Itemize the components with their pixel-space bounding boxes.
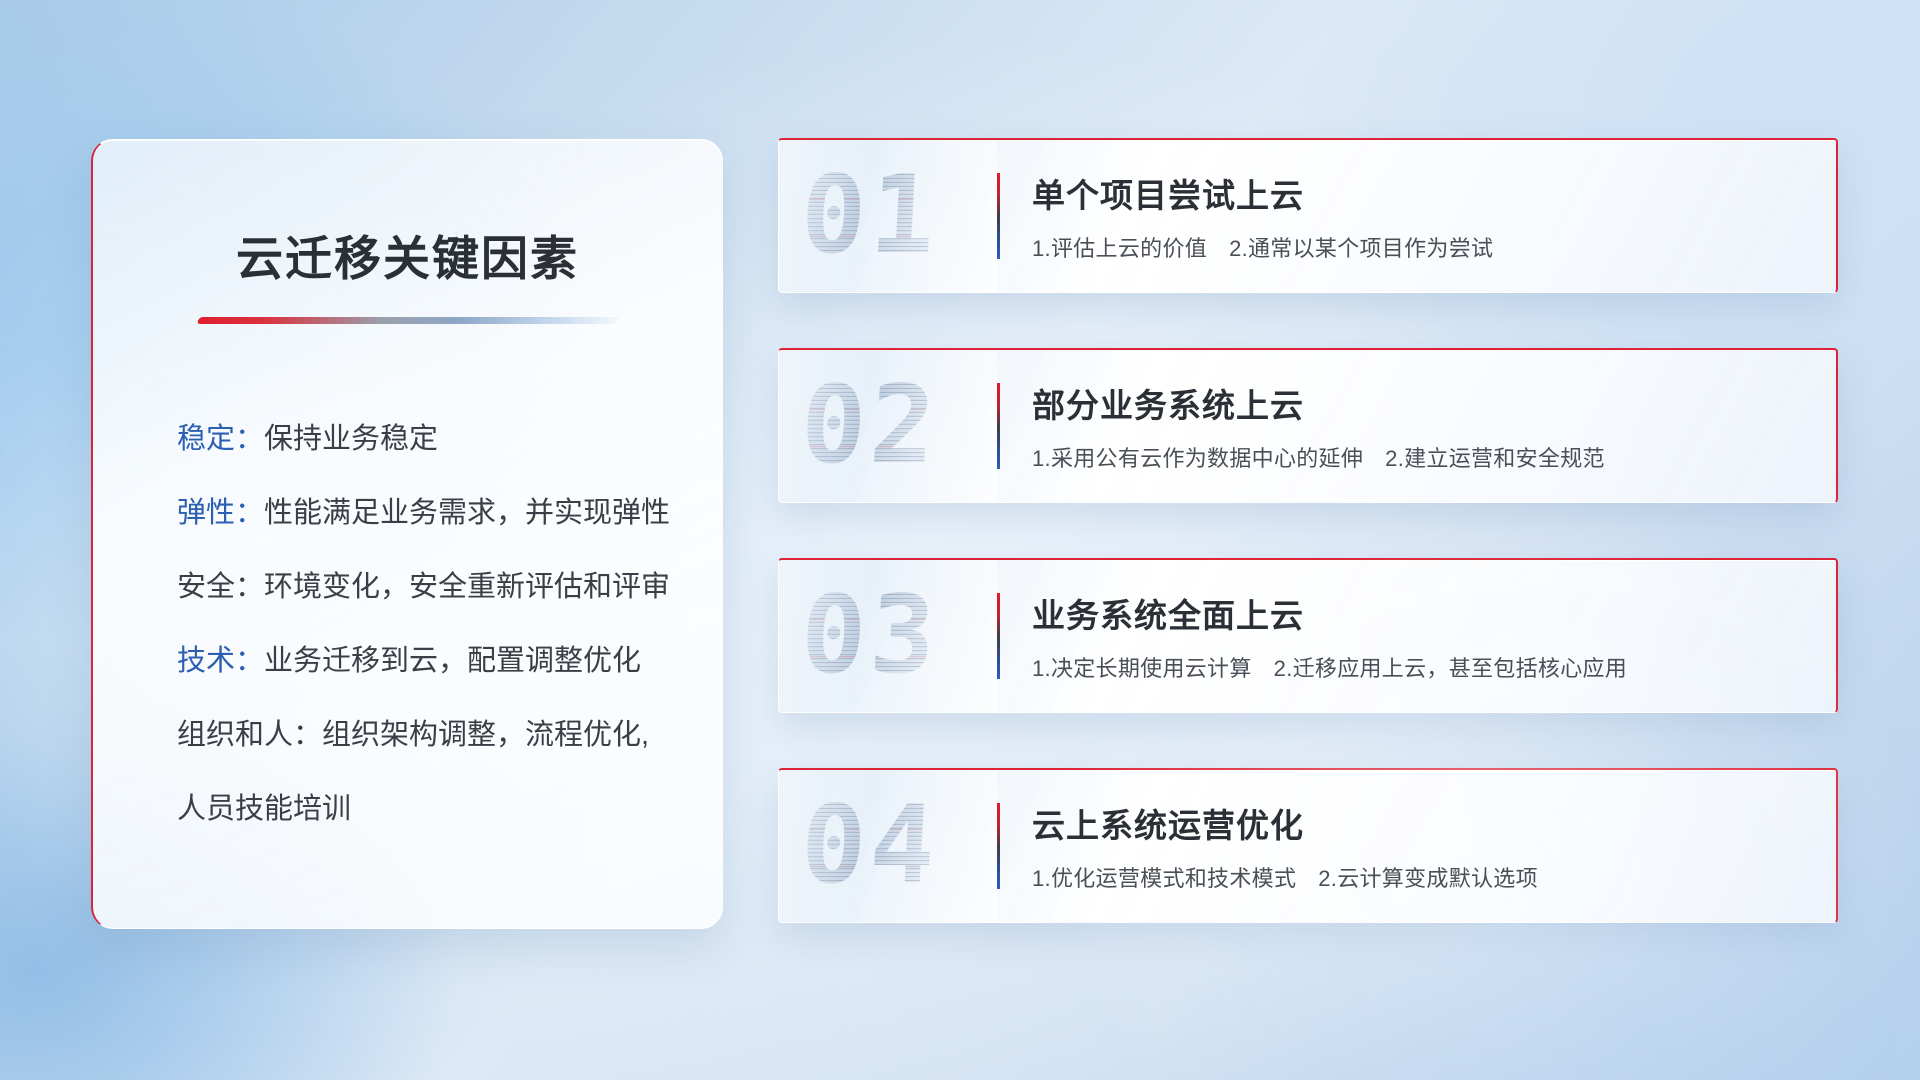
stage-number-glyph: 04 — [798, 792, 942, 900]
stage-card-description: 1.评估上云的价值2.通常以某个项目作为尝试 — [1032, 231, 1810, 263]
title-underline-accent — [196, 317, 619, 324]
stage-card-body: 01 单个项目尝试上云 1.评估上云的价值2.通常以某个项目作为尝试 — [779, 140, 1836, 292]
factor-label: 稳定： — [177, 423, 264, 455]
stage-card-description: 1.采用公有云作为数据中心的延伸2.建立运营和安全规范 — [1032, 441, 1810, 473]
key-factors-panel-inner: 云迁移关键因素 稳定：保持业务稳定 弹性：性能满足业务需求，并实现弹性 安全：环… — [93, 140, 722, 928]
stage-desc-part-1: 1.采用公有云作为数据中心的延伸 — [1032, 446, 1363, 471]
stage-card-description: 1.优化运营模式和技术模式2.云计算变成默认选项 — [1032, 861, 1810, 893]
stage-desc-part-2: 2.通常以某个项目作为尝试 — [1229, 236, 1493, 261]
stage-number-decoration: 02 — [779, 350, 997, 502]
list-item: 人员技能培训 — [177, 772, 670, 846]
stage-desc-part-1: 1.优化运营模式和技术模式 — [1032, 866, 1296, 891]
stage-desc-part-2: 2.建立运营和安全规范 — [1385, 446, 1605, 471]
stage-card-body: 04 云上系统运营优化 1.优化运营模式和技术模式2.云计算变成默认选项 — [779, 770, 1836, 922]
stage-card-02[interactable]: 02 部分业务系统上云 1.采用公有云作为数据中心的延伸2.建立运营和安全规范 — [778, 348, 1838, 503]
key-factors-panel: 云迁移关键因素 稳定：保持业务稳定 弹性：性能满足业务需求，并实现弹性 安全：环… — [91, 139, 723, 929]
stage-card-title: 业务系统全面上云 — [1032, 589, 1810, 637]
list-item: 技术：业务迁移到云，配置调整优化 — [177, 624, 670, 698]
stage-desc-part-2: 2.迁移应用上云，甚至包括核心应用 — [1274, 656, 1627, 681]
stage-number-glyph: 03 — [798, 582, 942, 690]
factor-text: 组织架构调整，流程优化, — [322, 719, 649, 751]
stage-desc-part-1: 1.决定长期使用云计算 — [1032, 656, 1252, 681]
stage-accent-bar — [997, 803, 1000, 889]
factor-text: 性能满足业务需求，并实现弹性 — [264, 497, 670, 529]
stage-number-decoration: 01 — [779, 140, 997, 292]
list-item: 组织和人：组织架构调整，流程优化, — [177, 698, 670, 772]
stage-card-body: 03 业务系统全面上云 1.决定长期使用云计算2.迁移应用上云，甚至包括核心应用 — [779, 560, 1836, 712]
stage-card-text: 部分业务系统上云 1.采用公有云作为数据中心的延伸2.建立运营和安全规范 — [1032, 379, 1836, 473]
stage-accent-bar — [997, 383, 1000, 469]
factor-label: 弹性： — [177, 497, 264, 529]
stage-card-text: 单个项目尝试上云 1.评估上云的价值2.通常以某个项目作为尝试 — [1032, 169, 1836, 263]
stage-card-list: 01 单个项目尝试上云 1.评估上云的价值2.通常以某个项目作为尝试 02 部分… — [778, 138, 1838, 978]
stage-card-description: 1.决定长期使用云计算2.迁移应用上云，甚至包括核心应用 — [1032, 651, 1810, 683]
factor-text: 保持业务稳定 — [264, 423, 438, 455]
stage-card-text: 业务系统全面上云 1.决定长期使用云计算2.迁移应用上云，甚至包括核心应用 — [1032, 589, 1836, 683]
factor-list: 稳定：保持业务稳定 弹性：性能满足业务需求，并实现弹性 安全：环境变化，安全重新… — [145, 402, 670, 846]
stage-card-04[interactable]: 04 云上系统运营优化 1.优化运营模式和技术模式2.云计算变成默认选项 — [778, 768, 1838, 923]
stage-card-title: 单个项目尝试上云 — [1032, 169, 1810, 217]
factor-text: 环境变化，安全重新评估和评审 — [264, 571, 670, 603]
factor-label: 安全： — [177, 571, 264, 603]
stage-card-text: 云上系统运营优化 1.优化运营模式和技术模式2.云计算变成默认选项 — [1032, 799, 1836, 893]
list-item: 弹性：性能满足业务需求，并实现弹性 — [177, 476, 670, 550]
slide-canvas: 云迁移关键因素 稳定：保持业务稳定 弹性：性能满足业务需求，并实现弹性 安全：环… — [0, 0, 1920, 1080]
stage-card-body: 02 部分业务系统上云 1.采用公有云作为数据中心的延伸2.建立运营和安全规范 — [779, 350, 1836, 502]
stage-card-01[interactable]: 01 单个项目尝试上云 1.评估上云的价值2.通常以某个项目作为尝试 — [778, 138, 1838, 293]
stage-number-decoration: 04 — [779, 770, 997, 922]
stage-accent-bar — [997, 593, 1000, 679]
stage-number-glyph: 02 — [798, 372, 942, 480]
stage-accent-bar — [997, 173, 1000, 259]
stage-desc-part-1: 1.评估上云的价值 — [1032, 236, 1207, 261]
factor-text: 人员技能培训 — [177, 793, 351, 825]
list-item: 安全：环境变化，安全重新评估和评审 — [177, 550, 670, 624]
stage-number-decoration: 03 — [779, 560, 997, 712]
page-title: 云迁移关键因素 — [145, 220, 670, 289]
stage-card-03[interactable]: 03 业务系统全面上云 1.决定长期使用云计算2.迁移应用上云，甚至包括核心应用 — [778, 558, 1838, 713]
factor-text: 业务迁移到云，配置调整优化 — [264, 645, 641, 677]
stage-number-glyph: 01 — [798, 162, 942, 270]
stage-desc-part-2: 2.云计算变成默认选项 — [1318, 866, 1538, 891]
stage-card-title: 部分业务系统上云 — [1032, 379, 1810, 427]
stage-card-title: 云上系统运营优化 — [1032, 799, 1810, 847]
factor-label: 技术： — [177, 645, 264, 677]
list-item: 稳定：保持业务稳定 — [177, 402, 670, 476]
factor-label: 组织和人： — [177, 719, 322, 751]
